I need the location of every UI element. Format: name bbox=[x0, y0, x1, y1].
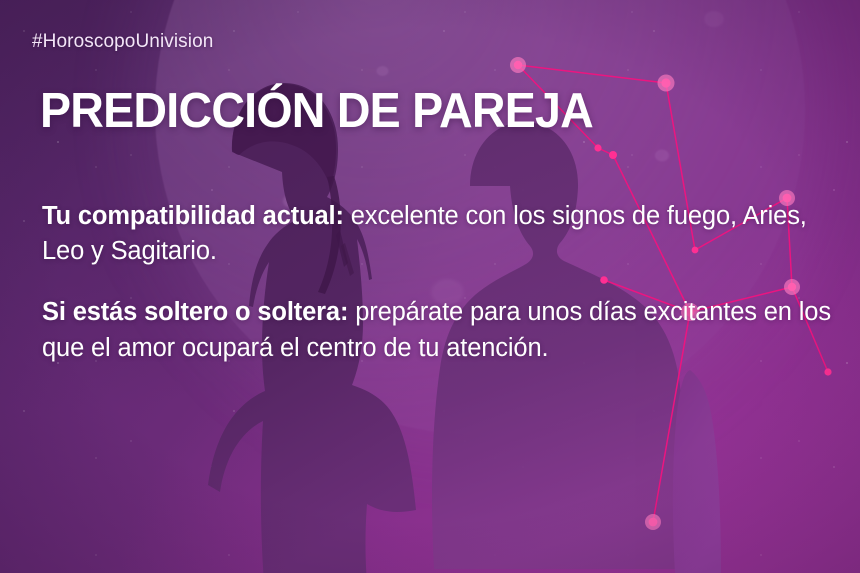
paragraph-single-lead: Si estás soltero o soltera: bbox=[42, 298, 348, 326]
paragraph-single: Si estás soltero o soltera: prepárate pa… bbox=[42, 295, 832, 365]
text-content: #HoroscopoUnivision PREDICCIÓN DE PAREJA… bbox=[0, 0, 860, 573]
hashtag-label: #HoroscopoUnivision bbox=[32, 31, 213, 53]
page-title: PREDICCIÓN DE PAREJA bbox=[40, 87, 593, 136]
horoscope-card: #HoroscopoUnivision PREDICCIÓN DE PAREJA… bbox=[0, 0, 860, 573]
body-text: Tu compatibilidad actual: excelente con … bbox=[42, 199, 832, 366]
paragraph-compatibility-lead: Tu compatibilidad actual: bbox=[42, 202, 344, 230]
paragraph-compatibility: Tu compatibilidad actual: excelente con … bbox=[42, 199, 832, 269]
